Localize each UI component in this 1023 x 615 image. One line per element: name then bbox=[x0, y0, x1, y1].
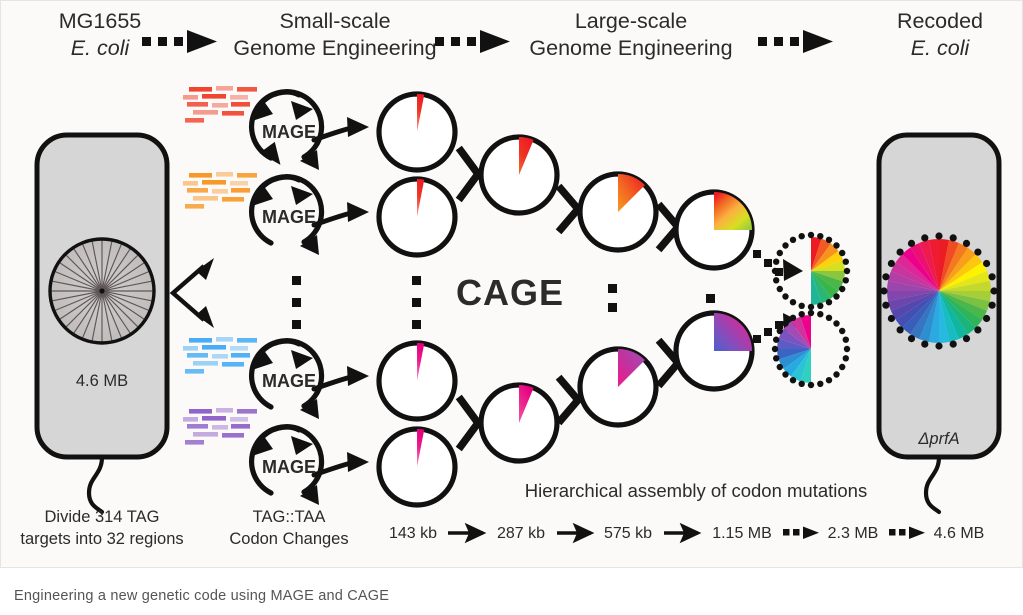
header-arrow-3 bbox=[758, 30, 833, 53]
pie-bottom-2 bbox=[379, 429, 455, 505]
divide-caption-line2: targets into 32 regions bbox=[20, 530, 183, 548]
mage-cycle-blue: MAGE bbox=[252, 341, 369, 419]
pie-top-5 bbox=[676, 192, 752, 268]
mage-caption-line2: Codon Changes bbox=[229, 530, 348, 548]
pie-top-3 bbox=[481, 137, 557, 213]
mage-label-red: MAGE bbox=[262, 122, 316, 142]
size-115mb: 1.15 MB bbox=[712, 525, 772, 542]
pie-bottom-3 bbox=[481, 385, 557, 461]
header-stage-large-scale: Large-scale Genome Engineering bbox=[529, 9, 732, 60]
size-23mb: 2.3 MB bbox=[828, 525, 879, 542]
ellipsis-vertical-left bbox=[292, 276, 301, 329]
size-575kb: 575 kb bbox=[604, 525, 652, 542]
mage-cycle-orange: MAGE bbox=[252, 177, 369, 255]
chevron-top-1 bbox=[461, 151, 478, 197]
figure-caption: Engineering a new genetic code using MAG… bbox=[14, 588, 914, 604]
pie-top-2 bbox=[379, 179, 455, 255]
chevron-top-2 bbox=[561, 189, 578, 229]
header-largescale-line1: Large-scale bbox=[575, 9, 687, 33]
pie-top-1 bbox=[379, 94, 455, 170]
header-arrow-2 bbox=[435, 30, 510, 53]
dotted-upper-wedges bbox=[811, 237, 845, 305]
mage-label-orange: MAGE bbox=[262, 207, 316, 227]
chevron-bottom-2 bbox=[561, 380, 578, 420]
header-largescale-line2: Genome Engineering bbox=[529, 36, 732, 60]
hierarchy-label: Hierarchical assembly of codon mutations bbox=[525, 480, 867, 501]
ellipsis-vertical-pies bbox=[412, 276, 421, 329]
header-mg1655-line1: MG1655 bbox=[59, 9, 142, 33]
cage-mid-dot bbox=[706, 294, 715, 303]
header-mg1655-line2: E. coli bbox=[71, 36, 131, 60]
left-genome-circle bbox=[50, 239, 154, 343]
header-arrow-1 bbox=[142, 30, 217, 53]
mage-caption-line1: TAG::TAA bbox=[253, 508, 326, 526]
oligo-cluster-red bbox=[183, 86, 257, 123]
mage-label-purple: MAGE bbox=[262, 457, 316, 477]
oligo-cluster-orange bbox=[183, 172, 257, 209]
header-stage-small-scale: Small-scale Genome Engineering bbox=[233, 9, 436, 60]
mage-cycle-red: MAGE bbox=[252, 92, 369, 171]
pie-top-4 bbox=[580, 174, 656, 250]
figure-root: MG1655 E. coli Small-scale Genome Engine… bbox=[0, 0, 1023, 615]
dotted-circle-lower bbox=[772, 310, 850, 388]
diagram-canvas: MG1655 E. coli Small-scale Genome Engine… bbox=[1, 1, 1023, 568]
size-46mb: 4.6 MB bbox=[934, 525, 985, 542]
cage-label: CAGE bbox=[456, 272, 564, 313]
header-smallscale-line2: Genome Engineering bbox=[233, 36, 436, 60]
right-genome-colorwheel bbox=[880, 232, 997, 349]
diagram-panel: MG1655 E. coli Small-scale Genome Engine… bbox=[0, 0, 1023, 568]
header-recoded-line1: Recoded bbox=[897, 9, 983, 33]
oligo-cluster-purple bbox=[183, 408, 257, 445]
mage-cycle-purple: MAGE bbox=[252, 427, 369, 505]
mage-label-blue: MAGE bbox=[262, 371, 316, 391]
header-recoded-line2: E. coli bbox=[911, 36, 971, 60]
left-genome-size-label: 4.6 MB bbox=[76, 372, 128, 390]
size-287kb: 287 kb bbox=[497, 525, 545, 542]
header-stage-recoded: Recoded E. coli bbox=[897, 9, 983, 60]
size-143kb: 143 kb bbox=[389, 525, 437, 542]
chevron-bottom-1 bbox=[461, 400, 478, 446]
divide-caption-line1: Divide 314 TAG bbox=[45, 508, 160, 526]
pie-bottom-4 bbox=[580, 349, 656, 425]
size-chain: 143 kb 287 kb 575 kb 1.15 MB 2.3 MB 4.6 … bbox=[389, 525, 984, 542]
header-stage-mg1655: MG1655 E. coli bbox=[59, 9, 142, 60]
cage-colon-dots bbox=[608, 284, 617, 312]
pie-bottom-1 bbox=[379, 343, 455, 419]
pie-bottom-5 bbox=[676, 313, 752, 389]
oligo-cluster-blue bbox=[183, 337, 257, 374]
header-smallscale-line1: Small-scale bbox=[279, 9, 390, 33]
right-cell-genotype-label: ΔprfA bbox=[917, 430, 959, 448]
